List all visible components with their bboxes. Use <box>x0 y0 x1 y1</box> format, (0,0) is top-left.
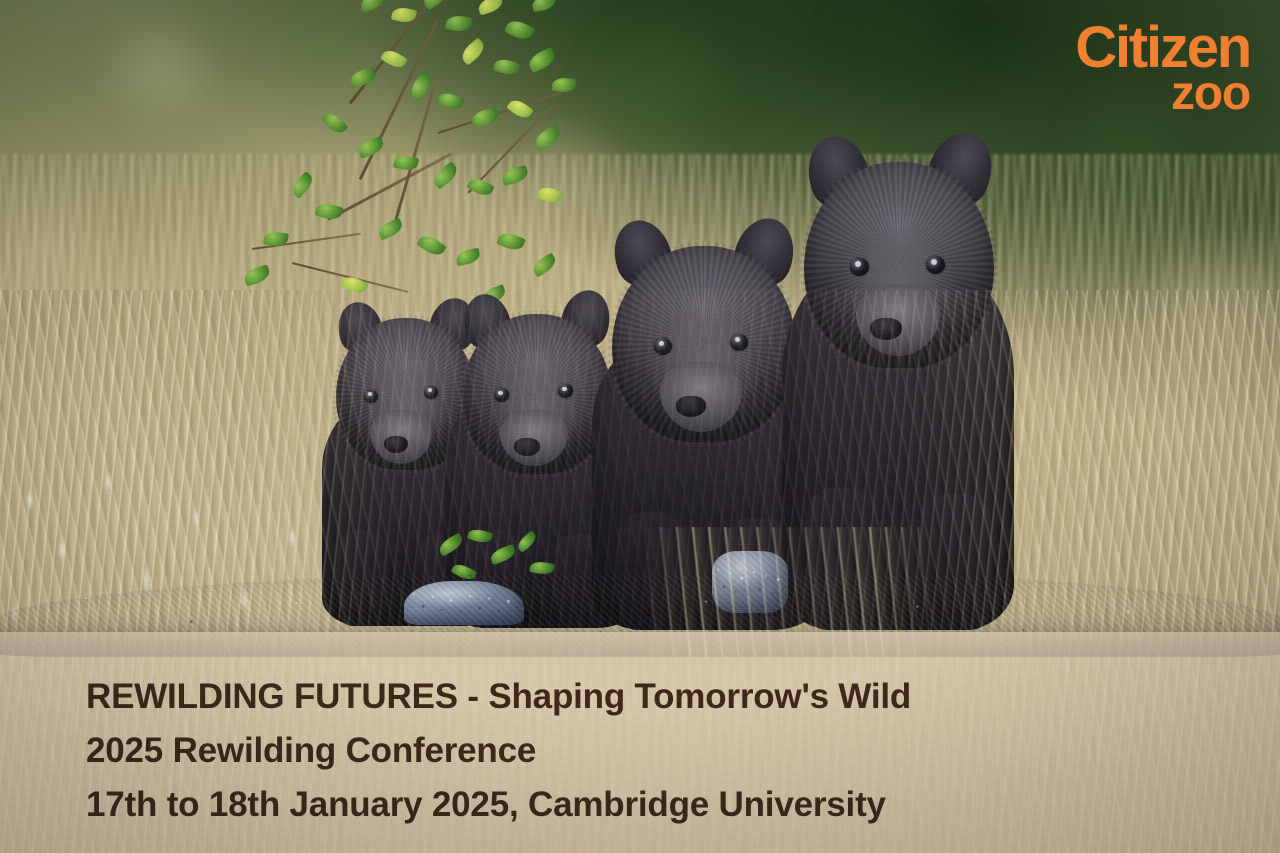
event-title: REWILDING FUTURES - Shaping Tomorrow's W… <box>86 670 1240 724</box>
event-info-text-block: REWILDING FUTURES - Shaping Tomorrow's W… <box>86 670 1240 832</box>
event-details: 17th to 18th January 2025, Cambridge Uni… <box>86 778 1240 832</box>
rock-boulder <box>404 581 524 625</box>
event-info-banner: REWILDING FUTURES - Shaping Tomorrow's W… <box>0 632 1280 853</box>
event-subtitle: 2025 Rewilding Conference <box>86 724 1240 778</box>
conference-poster: Citizen zoo REWILDING FUTURES - Shaping … <box>0 0 1280 853</box>
rock-speckle-texture <box>404 581 524 625</box>
bear-eye <box>850 258 869 276</box>
bear-eye <box>926 256 945 274</box>
citizen-zoo-logo[interactable]: Citizen zoo <box>1075 24 1250 113</box>
shrub-foliage <box>232 0 592 312</box>
logo-word-citizen: Citizen <box>1075 24 1250 72</box>
